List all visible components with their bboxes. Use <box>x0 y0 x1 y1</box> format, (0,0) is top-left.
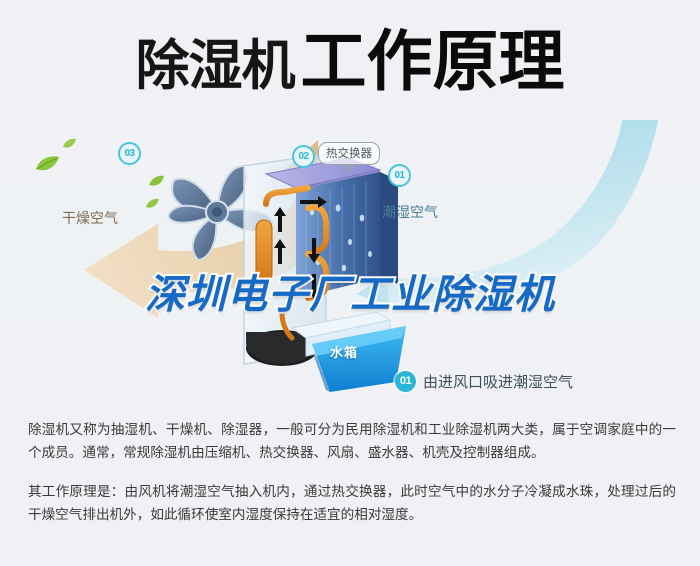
paragraph-1: 除湿机又称为抽湿机、干燥机、除湿器，一般可分为民用除湿机和工业除湿机两大类，属于… <box>28 418 676 464</box>
title-part-2: 工作原理 <box>301 24 565 98</box>
label-water-tank: 水箱 <box>330 342 358 361</box>
badge-dry-air: 03 <box>118 142 141 165</box>
page-title: 除湿机工作原理 <box>0 28 700 94</box>
legend-item: 01 由进风口吸进潮湿空气 <box>395 370 695 392</box>
paragraph-2: 其工作原理是：由风机将潮湿空气抽入机内，通过热交换器，此时空气中的水分子冷凝成水… <box>28 480 676 526</box>
title-part-1: 除湿机 <box>136 36 295 96</box>
heat-exchanger-callout: 热交换器 <box>318 142 380 165</box>
body-copy: 除湿机又称为抽湿机、干燥机、除湿器，一般可分为民用除湿机和工业除湿机两大类，属于… <box>28 418 676 526</box>
diagram-illustration: 03 干燥空气 01 潮湿空气 02 热交换器 水箱 01 由进风口吸进潮湿空气… <box>0 120 700 400</box>
label-humid-air: 潮湿空气 <box>382 202 438 222</box>
infographic-page: 除湿机工作原理 <box>0 0 700 566</box>
badge-heat-exchanger: 02 <box>292 145 315 168</box>
badge-humid-air: 01 <box>388 164 411 187</box>
legend-list: 01 由进风口吸进潮湿空气 02 潮湿空气经过蒸发器冷凝成水珠 03 从上部出风… <box>395 370 695 400</box>
label-dry-air: 干燥空气 <box>62 208 118 228</box>
watermark-text: 深圳电子厂工业除湿机 <box>0 262 700 320</box>
legend-badge: 01 <box>395 371 416 392</box>
leaf-icon <box>62 138 77 150</box>
callout-tail-icon <box>344 165 354 174</box>
leaf-icon <box>34 155 60 173</box>
heat-exchanger-callout-label: 热交换器 <box>318 142 380 165</box>
legend-label: 由进风口吸进潮湿空气 <box>423 371 573 392</box>
